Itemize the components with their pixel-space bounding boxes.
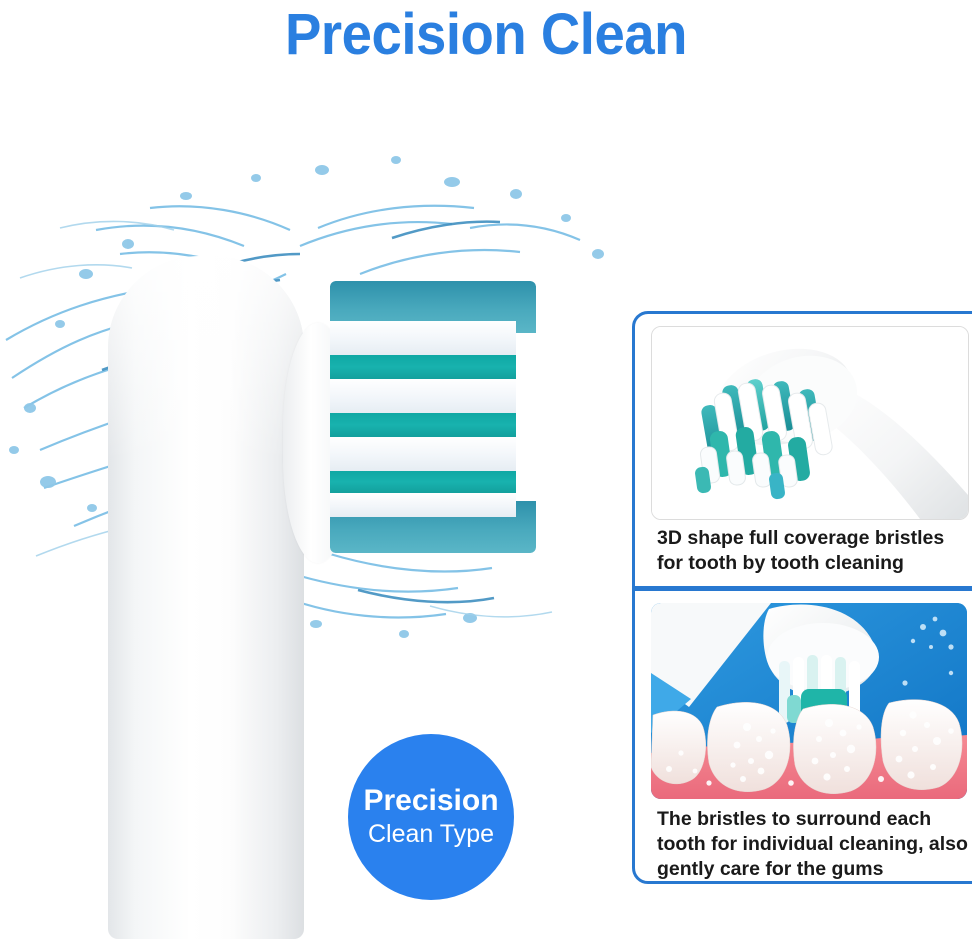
panel-caption-surround: The bristles to surround each tooth for …: [657, 807, 972, 882]
brush-bristle-field: [330, 281, 536, 553]
hero-product-illustration: Precision Clean Type: [0, 78, 630, 939]
badge-line-2: Clean Type: [368, 818, 494, 850]
brushing-teeth-illustration-icon: [651, 603, 967, 799]
panel-image-brushing-teeth: [651, 603, 967, 799]
brush-handle-highlight: [108, 256, 304, 939]
toothbrush-head-closeup-icon: [652, 327, 968, 519]
bristle-inner-rows: [330, 321, 516, 517]
product-image-canvas: Precision Clean: [0, 0, 972, 939]
feature-panel-3d-shape: 3D shape full coverage bristles for toot…: [632, 311, 972, 589]
panel-caption-3d-shape: 3D shape full coverage bristles for toot…: [657, 526, 972, 576]
panel-image-brush-head: [651, 326, 969, 520]
feature-panel-surround-bristles: The bristles to surround each tooth for …: [632, 588, 972, 884]
page-title: Precision Clean: [29, 2, 943, 68]
badge-line-1: Precision: [363, 784, 498, 818]
precision-clean-type-badge: Precision Clean Type: [348, 734, 514, 900]
